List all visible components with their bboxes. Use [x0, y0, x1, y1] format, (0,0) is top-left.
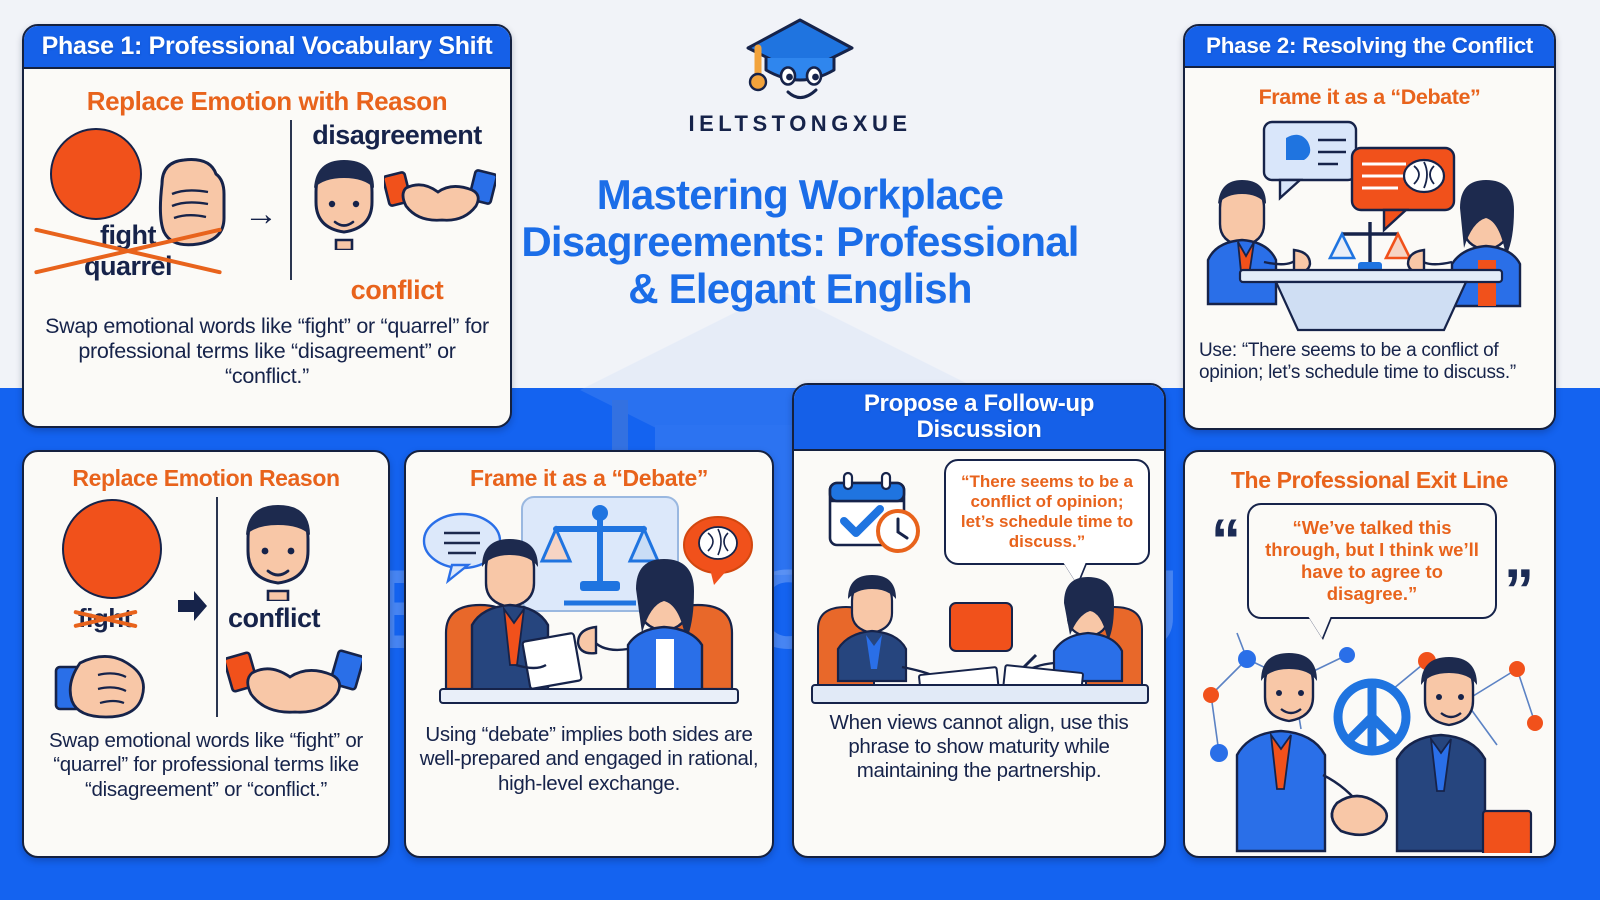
person-right-icon [1397, 657, 1531, 853]
open-quote-icon: “ [1211, 523, 1241, 559]
crossed-out-words: fight quarrel [48, 220, 208, 282]
phase2-card: Phase 2: Resolving the Conflict Frame it… [1183, 24, 1556, 430]
card2-caption: Using “debate” implies both sides are we… [418, 723, 760, 796]
bad-word-1: fight [48, 220, 208, 251]
brand-name: IELTSTONGXUE [520, 111, 1080, 137]
calendar-check-icon [826, 471, 926, 557]
raised-fist-icon [54, 641, 150, 725]
card2-subtitle: Frame it as a “Debate” [470, 466, 708, 491]
divider [216, 497, 218, 717]
card3-caption: When views cannot align, use this phrase… [804, 711, 1154, 784]
right-arrow-icon [178, 589, 208, 623]
phase2-subtitle: Frame it as a “Debate” [1259, 86, 1481, 110]
card3-header: Propose a Follow-up Discussion [794, 385, 1164, 451]
meeting-table-scene-icon [804, 571, 1156, 707]
debate-table-scene-icon [418, 493, 760, 721]
good-word: conflict [228, 603, 320, 634]
close-quote-icon: ” [1504, 573, 1534, 609]
handshake-icon [1331, 796, 1386, 835]
brand-logo-graduation-cap-mascot-icon [740, 14, 860, 106]
card3-quote: “There seems to be a conflict of opinion… [961, 472, 1133, 551]
center-header: IELTSTONGXUE Mastering Workplace Disagre… [520, 14, 1080, 312]
person-right-icon [1022, 577, 1122, 681]
card1-subtitle: Replace Emotion Reason [72, 466, 339, 491]
phase2-header: Phase 2: Resolving the Conflict [1185, 26, 1554, 68]
speech-bubble-brain-icon [684, 517, 752, 585]
angry-face-icon [50, 128, 142, 220]
card-exit-line: The Professional Exit Line “ “We’ve talk… [1183, 450, 1556, 858]
infographic-canvas: IELTSTONGXUE IELTSTONGXUE Mastering Work… [0, 0, 1600, 900]
bad-word: fight [78, 603, 132, 634]
card4-subtitle: The Professional Exit Line [1231, 468, 1508, 493]
card4-quote: “We’ve talked this through, but I think … [1265, 517, 1479, 603]
page-title: Mastering Workplace Disagreements: Profe… [520, 171, 1080, 312]
bad-word-2: quarrel [48, 251, 208, 282]
calm-person-icon [234, 497, 322, 601]
card-frame-debate: Frame it as a “Debate” [404, 450, 774, 858]
calm-person-icon [304, 154, 384, 250]
phase2-caption: Use: “There seems to be a conflict of op… [1199, 340, 1540, 385]
speech-bubble-quote: “We’ve talked this through, but I think … [1247, 503, 1497, 618]
clock-icon [878, 511, 918, 551]
peace-sign-icon [1338, 683, 1406, 751]
angry-face-icon [62, 499, 162, 599]
good-word-2: conflict [298, 276, 496, 306]
good-word-1: disagreement [298, 120, 496, 151]
divider [290, 120, 292, 280]
right-arrow-icon: → [238, 195, 284, 234]
handshake-icon [384, 160, 496, 230]
balance-scales-icon [1330, 222, 1410, 272]
speech-bubble-quote: “There seems to be a conflict of opinion… [944, 459, 1150, 565]
bubble-tail-icon [1308, 616, 1331, 638]
phase1-subtitle: Replace Emotion with Reason [87, 87, 448, 116]
phase1-caption: Swap emotional words like “fight” or “qu… [38, 314, 496, 390]
handshake-icon [226, 643, 362, 723]
phase1-card: Phase 1: Professional Vocabulary Shift R… [22, 24, 512, 428]
card1-caption: Swap emotional words like “fight” or “qu… [36, 729, 376, 802]
card-replace-emotion: Replace Emotion Reason fight [22, 450, 390, 858]
card-follow-up: Propose a Follow-up Discussion “Ther [792, 383, 1166, 858]
handshake-agreement-scene-icon [1197, 625, 1543, 853]
debate-podium-scene-icon [1202, 112, 1538, 338]
phase1-header: Phase 1: Professional Vocabulary Shift [24, 26, 510, 69]
